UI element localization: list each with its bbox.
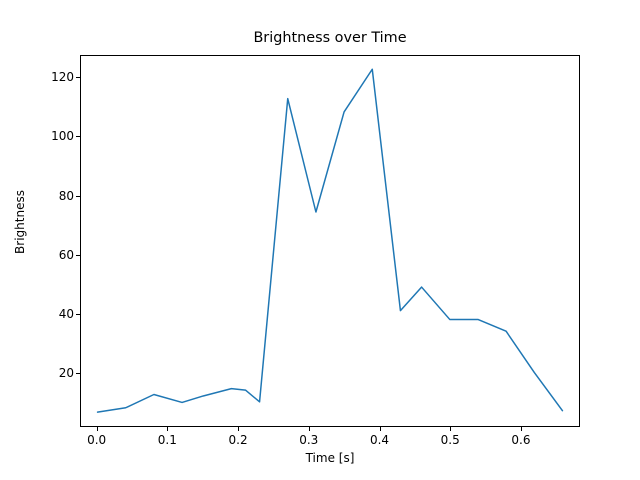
y-tick-label: 40 [59,307,74,321]
line-series-brightness [81,56,579,426]
x-tick-mark [97,427,98,431]
x-tick-label: 0.1 [158,433,177,447]
y-tick-label: 80 [59,189,74,203]
x-tick-mark [380,427,381,431]
y-tick-label: 20 [59,366,74,380]
x-tick-mark [238,427,239,431]
data-polyline [98,69,563,412]
x-tick-label: 0.0 [87,433,106,447]
y-axis-tick-labels: 20406080100120 [38,55,74,427]
y-tick-mark [76,373,80,374]
x-tick-mark [309,427,310,431]
y-tick-label: 100 [51,129,74,143]
x-tick-mark [521,427,522,431]
y-axis-tick-marks [76,55,80,427]
y-tick-mark [76,314,80,315]
x-tick-label: 0.3 [299,433,318,447]
y-tick-mark [76,196,80,197]
y-tick-mark [76,136,80,137]
x-tick-mark [167,427,168,431]
y-tick-mark [76,77,80,78]
x-axis-tick-marks [80,427,580,431]
y-tick-label: 120 [51,70,74,84]
x-tick-label: 0.2 [229,433,248,447]
x-tick-label: 0.5 [441,433,460,447]
chart-title: Brightness over Time [80,30,580,47]
y-axis-label: Brightness [13,142,27,302]
x-tick-label: 0.6 [511,433,530,447]
x-tick-label: 0.4 [370,433,389,447]
plot-area [80,55,580,427]
x-axis-label: Time [s] [80,451,580,465]
y-tick-mark [76,255,80,256]
y-tick-label: 60 [59,248,74,262]
x-tick-mark [450,427,451,431]
chart-figure: Brightness over Time 20406080100120 0.00… [0,0,640,480]
